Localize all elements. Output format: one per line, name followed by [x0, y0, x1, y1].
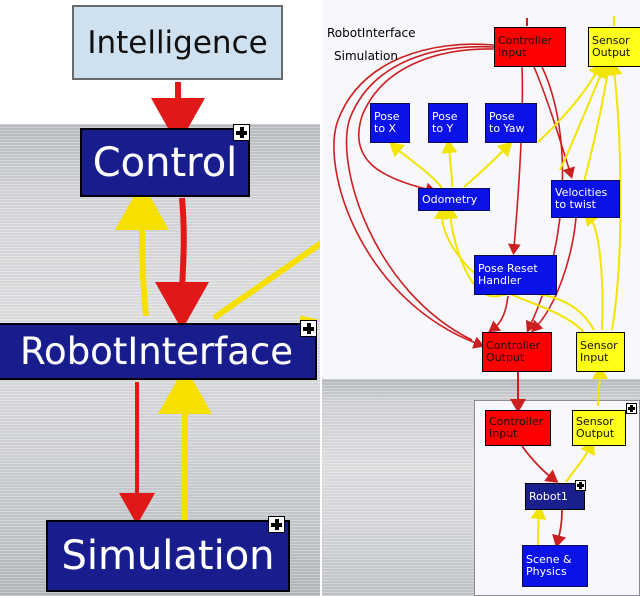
app-root: Intelligence Control RobotInterface Simu… — [0, 0, 640, 596]
node-sensor-output[interactable]: Sensor Output — [588, 27, 640, 67]
node-controller-output[interactable]: Controller Output — [482, 332, 552, 372]
left-panel: Intelligence Control RobotInterface Simu… — [0, 0, 320, 596]
sim-node-controller-input[interactable]: Controller Input — [485, 410, 551, 446]
plus-icon — [303, 323, 314, 334]
node-controller-input[interactable]: Controller Input — [494, 27, 566, 67]
node-sensor-output-line2: Output — [592, 47, 630, 59]
node-pose-to-x-line2: to X — [374, 123, 396, 135]
right-panel: RobotInterface Controller Input Sensor O… — [322, 0, 640, 596]
sim-node-scene-physics[interactable]: Scene & Physics — [522, 545, 588, 587]
collapse-simulation-panel-button[interactable] — [626, 403, 637, 414]
node-pose-to-yaw-line2: to Yaw — [489, 123, 524, 135]
expand-robot1-button[interactable] — [575, 480, 586, 491]
plus-icon — [577, 482, 584, 489]
plus-icon — [271, 519, 282, 530]
sim-node-robot1-label: Robot1 — [529, 491, 568, 503]
block-intelligence-label: Intelligence — [87, 25, 267, 61]
expand-simulation-button[interactable] — [268, 516, 285, 533]
block-intelligence[interactable]: Intelligence — [72, 5, 283, 80]
node-pose-reset-line2: Handler — [478, 275, 521, 287]
robotinterface-canvas-title: RobotInterface — [327, 26, 416, 40]
node-odometry[interactable]: Odometry — [418, 188, 490, 211]
node-sensor-input[interactable]: Sensor Input — [576, 332, 625, 372]
sim-node-scene-line2: Physics — [526, 566, 567, 578]
block-control[interactable]: Control — [80, 128, 250, 197]
node-pose-reset-handler[interactable]: Pose Reset Handler — [474, 255, 557, 295]
expand-control-button[interactable] — [233, 124, 250, 141]
node-pose-to-x[interactable]: Pose to X — [370, 103, 410, 143]
node-velocities-line2: to twist — [555, 199, 596, 211]
block-robotinterface-label: RobotInterface — [20, 333, 293, 370]
sim-node-sensor-output[interactable]: Sensor Output — [572, 410, 626, 446]
sim-node-controller-input-line2: Input — [489, 428, 517, 440]
simulation-canvas-title: Simulation — [334, 49, 398, 63]
block-simulation[interactable]: Simulation — [46, 520, 290, 592]
node-pose-to-y-line2: to Y — [432, 123, 453, 135]
block-control-label: Control — [93, 143, 238, 183]
node-velocities-to-twist[interactable]: Velocities to twist — [551, 180, 620, 218]
node-controller-output-line2: Output — [486, 352, 524, 364]
node-controller-input-line2: Input — [498, 47, 526, 59]
node-odometry-label: Odometry — [422, 194, 477, 206]
plus-icon — [236, 127, 247, 138]
block-robotinterface[interactable]: RobotInterface — [0, 323, 317, 380]
block-simulation-label: Simulation — [61, 536, 274, 576]
plus-icon — [628, 405, 635, 412]
node-pose-to-yaw[interactable]: Pose to Yaw — [485, 103, 537, 143]
node-sensor-input-line2: Input — [580, 352, 608, 364]
node-pose-to-y[interactable]: Pose to Y — [428, 103, 468, 143]
sim-node-sensor-output-line2: Output — [576, 428, 614, 440]
expand-robotinterface-button[interactable] — [300, 320, 317, 337]
